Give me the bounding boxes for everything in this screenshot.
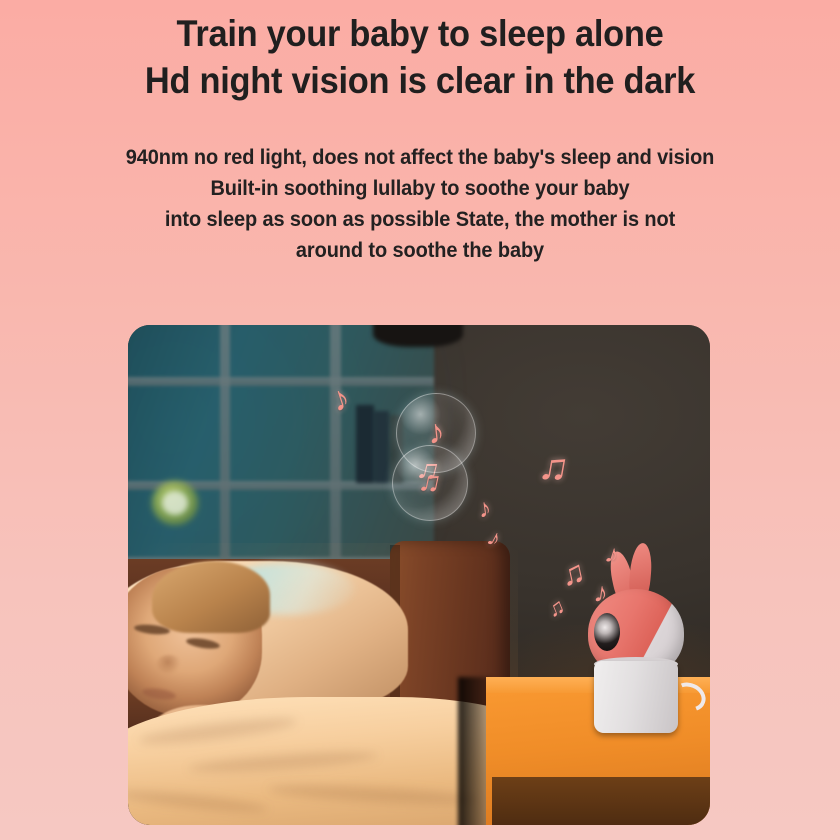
product-scene-photo: ♪♫♪♫♪♫♪♫♪♫♪ <box>128 325 710 825</box>
nightstand-front-panel <box>492 777 710 825</box>
headline-line-1: Train your baby to sleep alone <box>29 10 810 57</box>
headline-line-2: Hd night vision is clear in the dark <box>29 57 810 104</box>
subcopy-block: 940nm no red light, does not affect the … <box>21 142 819 266</box>
camera-base <box>594 661 678 733</box>
camera-lens-icon <box>594 613 620 651</box>
subcopy-line-3: into sleep as soon as possible State, th… <box>21 204 819 235</box>
shelf-board <box>128 377 434 386</box>
baby-nose <box>156 655 182 673</box>
shelf-book <box>374 411 389 483</box>
shelf-book <box>356 405 374 483</box>
rabbit-baby-camera <box>572 557 702 733</box>
page-title: Train your baby to sleep alone Hd night … <box>29 10 810 104</box>
promo-page: Train your baby to sleep alone Hd night … <box>0 0 840 840</box>
baby-hair <box>152 561 270 633</box>
subcopy-line-1: 940nm no red light, does not affect the … <box>21 142 819 173</box>
ceiling-dark-object <box>373 325 463 347</box>
subcopy-line-2: Built-in soothing lullaby to soothe your… <box>21 173 819 204</box>
shelf-clock-face <box>162 491 188 515</box>
music-bubble: ♪ <box>396 393 476 473</box>
subcopy-line-4: around to soothe the baby <box>21 235 819 266</box>
music-note-icon: ♪ <box>426 415 446 451</box>
